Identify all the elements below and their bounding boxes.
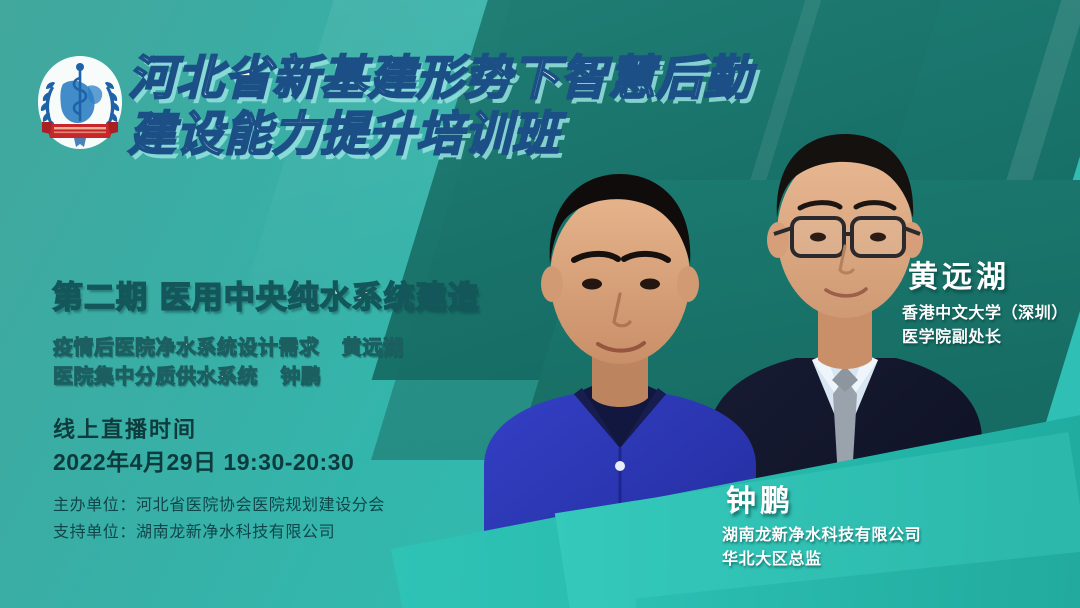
topic-item: 疫情后医院净水系统设计需求 黄远湖 [53, 333, 403, 362]
live-time-value: 2022年4月29日 19:30-20:30 [53, 446, 354, 479]
speaker-name: 钟鹏 [726, 476, 921, 520]
speaker-caption-zhong-peng: 钟鹏 湖南龙新净水科技有限公司 华北大区总监 [722, 476, 921, 572]
webinar-poster: 河北省新基建形势下智慧后勤 建设能力提升培训班 [0, 0, 1080, 608]
organizer-host: 主办单位：河北省医院协会医院规划建设分会 [53, 492, 385, 519]
speaker-title: 医学院副处长 [902, 326, 1068, 350]
topic-list: 疫情后医院净水系统设计需求 黄远湖 医院集中分质供水系统 钟鹏 [53, 333, 403, 391]
speaker-affiliation: 湖南龙新净水科技有限公司 [722, 524, 921, 548]
speaker-affiliation: 香港中文大学（深圳） [902, 302, 1068, 326]
live-time-block: 线上直播时间 2022年4月29日 19:30-20:30 [53, 414, 354, 479]
speaker-title: 华北大区总监 [722, 548, 921, 572]
live-time-label: 线上直播时间 [53, 414, 354, 446]
session-heading: 第二期 医用中央纯水系统建造 [52, 272, 480, 317]
topic-item: 医院集中分质供水系统 钟鹏 [53, 362, 403, 391]
organizer-block: 主办单位：河北省医院协会医院规划建设分会 支持单位：湖南龙新净水科技有限公司 [53, 492, 385, 546]
organizer-support: 支持单位：湖南龙新净水科技有限公司 [53, 519, 385, 546]
speaker-caption-huang-yuanhu: 黄远湖 香港中文大学（深圳） 医学院副处长 [902, 252, 1068, 350]
speaker-name: 黄远湖 [908, 252, 1068, 296]
